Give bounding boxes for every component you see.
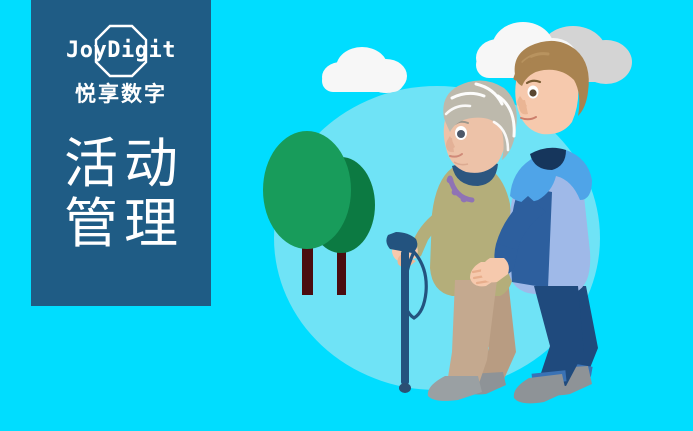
- logo-block: JoyDigit 悦享数字: [46, 22, 196, 118]
- page-title-line-1: 活动: [58, 134, 184, 194]
- logo-subtitle: 悦享数字: [75, 78, 167, 108]
- banner-root: JoyDigit 悦享数字 活动 管理: [0, 0, 693, 431]
- brand-panel: JoyDigit 悦享数字 活动 管理: [31, 0, 211, 306]
- page-title-line-2: 管理: [58, 194, 184, 254]
- logo-wordmark: JoyDigit: [66, 40, 176, 62]
- page-title: 活动 管理: [58, 134, 184, 255]
